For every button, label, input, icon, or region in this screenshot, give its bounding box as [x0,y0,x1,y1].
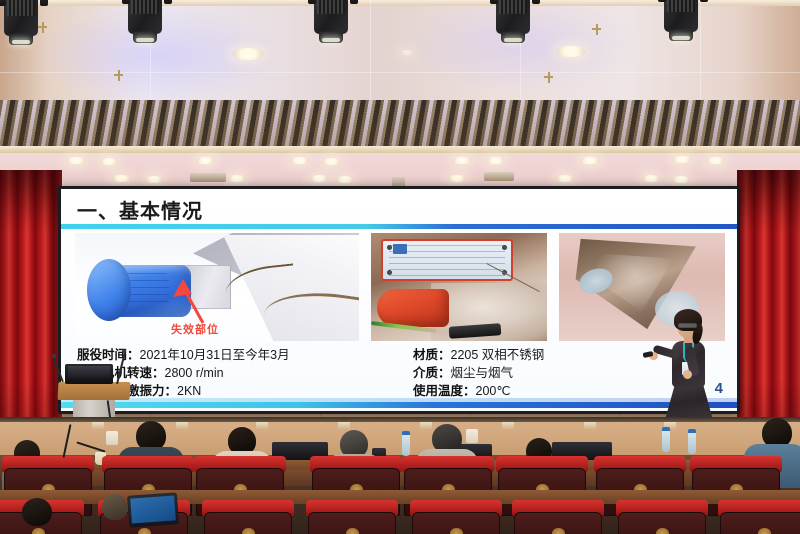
manufacturer-logo-icon [393,244,407,254]
motor-end-cap [87,259,131,321]
cad-render-image: 失效部位 [75,233,359,341]
chair-crest-emblem [552,528,565,534]
ceiling-downlight [145,176,163,183]
ceiling-downlight [100,158,118,165]
chair-crest-emblem [32,528,45,534]
ceiling-downlight [672,176,690,183]
spec-value: 烟尘与烟气 [451,366,514,380]
presenter-skirt [665,382,713,420]
ceiling-downlight [228,175,246,182]
stage-trim-bracket [92,422,104,430]
stage-trim-bracket [256,422,268,430]
water-bottle [662,430,670,452]
nameplate-photo [371,233,547,341]
spec-label: 材质： [413,348,451,362]
red-arrow-icon [169,279,229,325]
wall-outlet [466,429,478,443]
chair-crest-emblem [450,528,463,534]
slide-title-rule [61,224,737,229]
chair-crest-emblem [758,528,771,534]
water-bottle [688,432,696,454]
ceiling-downlight [486,157,505,164]
spec-value: 200℃ [476,384,511,398]
bottle-cap-icon [688,429,696,433]
microphone-head-icon [52,354,56,358]
spec-row: 介质：烟尘与烟气 [413,365,544,383]
spec-value: 2021年10月31日至今年3月 [140,348,290,362]
sprinkler-head-icon [114,70,123,81]
glasses-icon [678,323,697,328]
chair-crest-emblem [242,528,255,534]
attendee-head [102,494,128,520]
spec-label: 介质： [413,366,451,380]
auditorium-scene: 一、基本情况 失效部位 [0,0,800,534]
bottle-cap-icon [402,431,410,435]
stage-spotlight [660,0,706,50]
stage-trim-bracket [502,422,514,430]
auditorium-chair [614,500,710,534]
sprinkler-head-icon [544,72,553,83]
microphone-head-icon [122,349,126,353]
ceiling-downlight [642,175,660,182]
ceiling-grid-line [370,0,371,100]
spec-row: 服役时间：2021年10月31日至今年3月 [77,347,290,365]
ceiling-downlight [322,158,341,165]
red-motor-housing [377,289,449,327]
slide-bottom-rule [61,402,737,408]
stage-edge-trim [0,417,800,422]
recessed-downlight [556,46,586,57]
ceiling-downlight [556,175,574,182]
stage-trim-bracket [176,422,188,430]
ceiling-vent [484,172,514,181]
ceiling-pink-lit [0,153,800,187]
stage-spotlight [124,0,170,52]
baffle-bottom-trim [0,146,800,153]
auditorium-chair [200,500,296,534]
ceiling-upper [0,0,800,100]
ceiling-downlight [336,176,354,183]
ceiling-downlight [112,175,131,182]
failure-location-label: 失效部位 [171,321,219,337]
ceiling-downlight [290,157,309,164]
ceiling-downlight [452,157,472,164]
presenter-hand-right [683,370,692,379]
ceiling-downlight [196,157,215,164]
chair-crest-emblem [656,528,669,534]
chair-crest-emblem [346,528,359,534]
spec-value: 2205 双相不锈钢 [451,348,545,362]
stage-spotlight [492,0,538,52]
spec-value: 2KN [177,384,201,398]
chair-crest-emblem [138,528,151,534]
slide-spec-right-column: 材质：2205 双相不锈钢 介质：烟尘与烟气 使用温度：200℃ [413,347,544,400]
wooden-baffle-ceiling [0,100,800,148]
spec-label: 服役时间： [77,348,140,362]
ceiling-downlight [66,157,86,164]
stage-trim-bracket [420,422,432,430]
spec-row: 材质：2205 双相不锈钢 [413,347,544,365]
ceiling-downlight [706,157,725,164]
spec-value: 2800 r/min [165,366,224,380]
baffle-shading [0,100,800,148]
podium-desktop [58,382,131,400]
presentation-slide[interactable]: 一、基本情况 失效部位 [61,189,737,411]
recessed-downlight [232,48,264,60]
stage-spotlight [0,0,46,54]
auditorium-chair [716,500,800,534]
sprinkler-head-icon [592,24,601,35]
attendee-tablet-screen[interactable] [130,495,176,523]
ceiling-downlight [448,175,466,182]
ceiling-vent [190,173,226,182]
stage-trim-bracket [338,422,350,430]
auditorium-chair [304,500,400,534]
slide-media-row: 失效部位 [75,233,725,341]
attendee-head [22,498,52,526]
ceiling-downlight [580,157,600,164]
water-bottle [402,434,410,456]
wall-outlet [106,431,118,445]
motor-nameplate [381,239,513,281]
ceiling-downlight [672,156,692,163]
recessed-downlight [400,50,414,55]
auditorium-chair [510,500,606,534]
spec-label: 使用温度： [413,384,476,398]
bottle-cap-icon [662,427,670,431]
stage-trim-bracket [584,422,596,430]
stage-spotlight [310,0,356,52]
auditorium-chair [408,500,504,534]
ceiling-downlight [310,175,328,182]
slide-title: 一、基本情况 [77,195,203,224]
podium-laptop-screen[interactable] [68,366,110,378]
